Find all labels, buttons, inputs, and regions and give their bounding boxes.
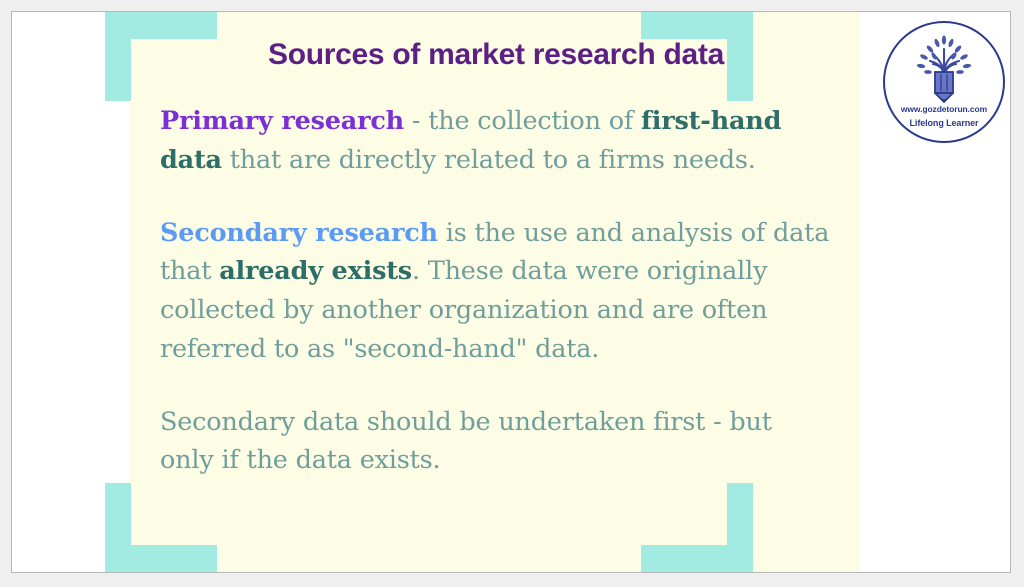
slide-canvas: Sources of market research data Primary … xyxy=(11,11,1011,573)
logo-url-text: www.gozdetorun.com xyxy=(877,104,1011,114)
body-paragraph-primary-research: Primary research - the collection of fir… xyxy=(160,102,832,180)
bracket-bar-vertical xyxy=(105,11,131,101)
brand-logo: www.gozdetorun.com Lifelong Learner xyxy=(877,15,1011,149)
body-text: - the collection of xyxy=(404,106,641,136)
bracket-bar-vertical xyxy=(727,483,753,573)
page-title: Sources of market research data xyxy=(160,38,832,72)
pencil-tree-icon xyxy=(910,31,978,103)
body-text: Secondary data should be undertaken firs… xyxy=(160,407,772,476)
emphasis-text: Primary research xyxy=(160,106,404,136)
slide-text-area: Sources of market research data Primary … xyxy=(160,38,832,480)
corner-bracket-bottom-right xyxy=(641,483,753,573)
emphasis-text: Secondary research xyxy=(160,218,438,248)
body-text: that are directly related to a firms nee… xyxy=(222,145,756,175)
corner-bracket-bottom-left xyxy=(105,483,217,573)
bracket-bar-vertical xyxy=(105,483,131,573)
logo-tagline-text: Lifelong Learner xyxy=(877,118,1011,128)
paragraph-container: Primary research - the collection of fir… xyxy=(160,102,832,480)
body-paragraph-secondary-first: Secondary data should be undertaken firs… xyxy=(160,403,832,481)
body-paragraph-secondary-research: Secondary research is the use and analys… xyxy=(160,214,832,369)
emphasis-text: already exists xyxy=(219,256,412,286)
